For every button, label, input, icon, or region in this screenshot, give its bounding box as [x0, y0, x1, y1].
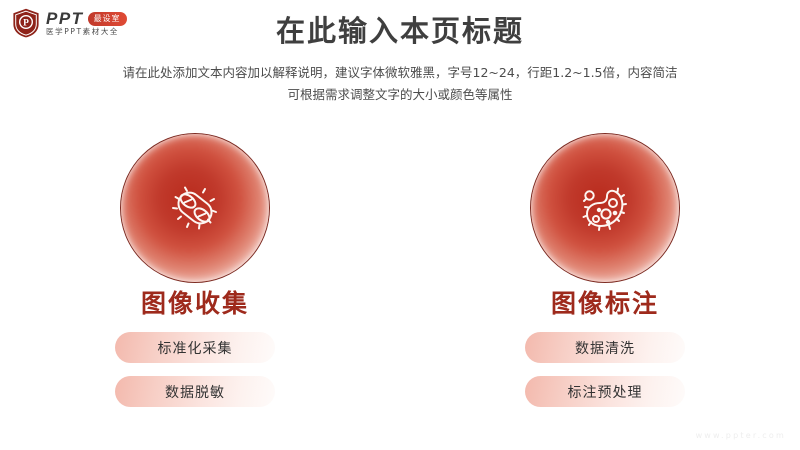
pill-item[interactable]: 数据脱敏: [115, 376, 275, 407]
icon-circle: [530, 133, 680, 283]
subtitle-line-1: 请在此处添加文本内容加以解释说明，建议字体微软雅黑，字号12~24，行距1.2~…: [0, 62, 800, 84]
pill-item[interactable]: 标准化采集: [115, 332, 275, 363]
pill-item[interactable]: 数据清洗: [525, 332, 685, 363]
watermark: www.ppter.com: [696, 431, 786, 440]
pill-item[interactable]: 标注预处理: [525, 376, 685, 407]
slide-canvas: P PPT 最设室 医学PPT素材大全 在此输入本页标题 请在此处添加文本内容加…: [0, 0, 800, 450]
column-image-collection: 图像收集 标准化采集 数据脱敏: [70, 133, 320, 407]
column-heading: 图像收集: [141, 289, 249, 319]
column-image-annotation: 图像标注 数据清洗 标注预处理: [480, 133, 730, 407]
column-heading: 图像标注: [551, 289, 659, 319]
diplococcus-bacteria-icon: [162, 175, 228, 241]
germ-microbe-icon: [572, 175, 638, 241]
page-subtitle: 请在此处添加文本内容加以解释说明，建议字体微软雅黑，字号12~24，行距1.2~…: [0, 62, 800, 106]
page-title: 在此输入本页标题: [0, 14, 800, 49]
content-columns: 图像收集 标准化采集 数据脱敏: [0, 133, 800, 407]
icon-circle: [120, 133, 270, 283]
subtitle-line-2: 可根据需求调整文字的大小或颜色等属性: [0, 84, 800, 106]
